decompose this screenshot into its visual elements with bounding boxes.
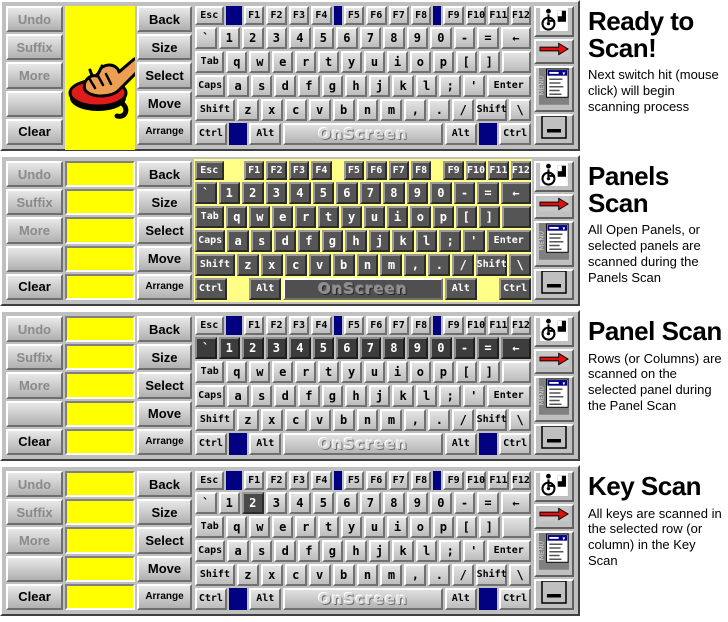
key-f3[interactable]: F3 xyxy=(289,471,309,490)
key-alt-right[interactable]: Alt xyxy=(445,123,477,145)
key-8[interactable]: 8 xyxy=(383,27,405,49)
key-8[interactable]: 8 xyxy=(383,492,405,514)
key-x[interactable]: x xyxy=(261,99,283,121)
key-shift-left[interactable]: Shift xyxy=(195,254,235,276)
highlight-box[interactable] xyxy=(65,91,135,117)
key-minus[interactable]: - xyxy=(454,492,476,514)
key-z[interactable]: z xyxy=(237,409,259,431)
key-f7[interactable]: F7 xyxy=(389,471,409,490)
command-button-more[interactable]: More xyxy=(6,372,63,398)
key-b[interactable]: b xyxy=(333,409,355,431)
key-ctrl-right[interactable]: Ctrl xyxy=(499,278,531,300)
command-button-more[interactable]: More xyxy=(6,527,63,553)
key-o[interactable]: o xyxy=(410,51,431,73)
key-comma[interactable]: , xyxy=(404,564,426,586)
key-p[interactable]: p xyxy=(433,206,454,228)
key-blank[interactable] xyxy=(502,361,531,383)
key-alt-right[interactable]: Alt xyxy=(445,278,477,300)
command-button-size[interactable]: Size xyxy=(137,34,192,60)
key-semicolon[interactable]: ; xyxy=(439,385,461,407)
highlight-box[interactable] xyxy=(65,217,135,243)
key-bracket-left[interactable]: [ xyxy=(456,361,477,383)
key-f9[interactable]: F9 xyxy=(443,471,463,490)
key-backspace[interactable]: ← xyxy=(501,492,531,514)
key-f5[interactable]: F5 xyxy=(344,6,364,25)
key-f11[interactable]: F11 xyxy=(488,316,508,335)
key-f5[interactable]: F5 xyxy=(344,316,364,335)
command-button-select[interactable]: Select xyxy=(137,527,192,553)
key-t[interactable]: t xyxy=(318,361,339,383)
menu-button[interactable]: MENU xyxy=(534,66,574,112)
key-ctrl-left[interactable]: Ctrl xyxy=(195,123,227,145)
key-period[interactable]: . xyxy=(428,99,450,121)
key-f4[interactable]: F4 xyxy=(311,471,331,490)
key-w[interactable]: w xyxy=(249,206,270,228)
red-arrow-button[interactable] xyxy=(534,349,574,373)
key-backslash[interactable]: \ xyxy=(509,409,531,431)
key-3[interactable]: 3 xyxy=(266,337,288,359)
key-spacebar[interactable]: OnScreen xyxy=(283,588,443,610)
minimize-button[interactable] xyxy=(534,579,574,610)
key-f9[interactable]: F9 xyxy=(443,316,463,335)
key-esc[interactable]: Esc xyxy=(195,471,224,490)
key-f2[interactable]: F2 xyxy=(266,161,286,180)
key-s[interactable]: s xyxy=(251,75,273,97)
key-1[interactable]: 1 xyxy=(219,337,241,359)
key-2[interactable]: 2 xyxy=(242,182,264,204)
command-button-size[interactable]: Size xyxy=(137,344,192,370)
command-button-arrange[interactable]: Arrange xyxy=(137,119,192,145)
key-quote[interactable]: ' xyxy=(463,75,485,97)
minimize-button[interactable] xyxy=(534,269,574,300)
menu-button[interactable]: MENU xyxy=(534,376,574,422)
key-q[interactable]: q xyxy=(226,206,247,228)
key-c[interactable]: c xyxy=(285,254,307,276)
key-q[interactable]: q xyxy=(226,51,247,73)
menu-button[interactable]: MENU xyxy=(534,221,574,267)
key-o[interactable]: o xyxy=(410,206,431,228)
key-slash[interactable]: / xyxy=(452,409,474,431)
key-backslash[interactable]: \ xyxy=(509,564,531,586)
key-f7[interactable]: F7 xyxy=(389,316,409,335)
key-x[interactable]: x xyxy=(261,254,283,276)
key-q[interactable]: q xyxy=(226,361,247,383)
key-z[interactable]: z xyxy=(237,564,259,586)
key-e[interactable]: e xyxy=(272,206,293,228)
command-button-blank[interactable] xyxy=(6,91,63,117)
key-q[interactable]: q xyxy=(226,516,247,538)
command-button-select[interactable]: Select xyxy=(137,217,192,243)
key-ctrl-right[interactable]: Ctrl xyxy=(499,433,531,455)
key-s[interactable]: s xyxy=(251,385,273,407)
key-g[interactable]: g xyxy=(322,75,344,97)
key-ctrl-left[interactable]: Ctrl xyxy=(195,588,227,610)
key-f1[interactable]: F1 xyxy=(244,161,264,180)
key-h[interactable]: h xyxy=(345,230,367,252)
key-shift-left[interactable]: Shift xyxy=(195,564,235,586)
key-4[interactable]: 4 xyxy=(289,182,311,204)
key-semicolon[interactable]: ; xyxy=(439,75,461,97)
highlight-box[interactable] xyxy=(65,316,135,342)
key-slash[interactable]: / xyxy=(452,254,474,276)
key-i[interactable]: i xyxy=(387,51,408,73)
key-n[interactable]: n xyxy=(357,254,379,276)
key-a[interactable]: a xyxy=(227,75,249,97)
key-s[interactable]: s xyxy=(251,230,273,252)
command-button-clear[interactable]: Clear xyxy=(6,584,63,610)
command-button-move[interactable]: Move xyxy=(137,401,192,427)
key-5[interactable]: 5 xyxy=(313,27,335,49)
key-equals[interactable]: = xyxy=(477,337,499,359)
key-comma[interactable]: , xyxy=(404,409,426,431)
key-t[interactable]: t xyxy=(318,206,339,228)
command-button-undo[interactable]: Undo xyxy=(6,471,63,497)
key-8[interactable]: 8 xyxy=(383,182,405,204)
highlight-box[interactable] xyxy=(65,189,135,215)
key-caps-lock[interactable]: Caps xyxy=(195,540,225,562)
key-g[interactable]: g xyxy=(322,540,344,562)
highlight-box[interactable] xyxy=(65,6,135,32)
highlight-box[interactable] xyxy=(65,246,135,272)
key-9[interactable]: 9 xyxy=(407,27,429,49)
highlight-box[interactable] xyxy=(65,62,135,88)
key-9[interactable]: 9 xyxy=(407,182,429,204)
command-button-select[interactable]: Select xyxy=(137,62,192,88)
command-button-blank[interactable] xyxy=(6,401,63,427)
key-c[interactable]: c xyxy=(285,409,307,431)
key-enter[interactable]: Enter xyxy=(487,230,531,252)
key-k[interactable]: k xyxy=(392,540,414,562)
key-f2[interactable]: F2 xyxy=(266,471,286,490)
key-shift-right[interactable]: Shift xyxy=(476,254,507,276)
key-7[interactable]: 7 xyxy=(360,337,382,359)
key-f1[interactable]: F1 xyxy=(244,471,264,490)
key-j[interactable]: j xyxy=(369,75,391,97)
key-z[interactable]: z xyxy=(237,99,259,121)
highlight-box[interactable] xyxy=(65,344,135,370)
command-button-select[interactable]: Select xyxy=(137,372,192,398)
key-7[interactable]: 7 xyxy=(360,182,382,204)
key-m[interactable]: m xyxy=(380,254,402,276)
key-a[interactable]: a xyxy=(227,385,249,407)
key-3[interactable]: 3 xyxy=(266,182,288,204)
command-button-back[interactable]: Back xyxy=(137,161,192,187)
key-7[interactable]: 7 xyxy=(360,27,382,49)
key-6[interactable]: 6 xyxy=(336,27,358,49)
key-backspace[interactable]: ← xyxy=(501,27,531,49)
key-f11[interactable]: F11 xyxy=(488,161,508,180)
key-9[interactable]: 9 xyxy=(407,337,429,359)
key-shift-right[interactable]: Shift xyxy=(476,99,507,121)
key-f3[interactable]: F3 xyxy=(289,6,309,25)
key-f12[interactable]: F12 xyxy=(511,161,531,180)
key-g[interactable]: g xyxy=(322,230,344,252)
key-1[interactable]: 1 xyxy=(219,492,241,514)
key-f6[interactable]: F6 xyxy=(366,161,386,180)
key-p[interactable]: p xyxy=(433,516,454,538)
highlight-box[interactable] xyxy=(65,429,135,455)
command-button-size[interactable]: Size xyxy=(137,499,192,525)
key-f11[interactable]: F11 xyxy=(488,471,508,490)
key-alt-left[interactable]: Alt xyxy=(249,123,281,145)
key-u[interactable]: u xyxy=(364,51,385,73)
key-alt-left[interactable]: Alt xyxy=(249,278,281,300)
key-n[interactable]: n xyxy=(357,99,379,121)
key-k[interactable]: k xyxy=(392,385,414,407)
key-k[interactable]: k xyxy=(392,75,414,97)
key-y[interactable]: y xyxy=(341,361,362,383)
key-caps-lock[interactable]: Caps xyxy=(195,230,225,252)
key-0[interactable]: 0 xyxy=(430,337,452,359)
key-j[interactable]: j xyxy=(369,230,391,252)
command-button-suffix[interactable]: Suffix xyxy=(6,499,63,525)
key-backspace[interactable]: ← xyxy=(501,337,531,359)
accessibility-button[interactable] xyxy=(534,316,574,347)
key-u[interactable]: u xyxy=(364,516,385,538)
key-backslash[interactable]: \ xyxy=(509,99,531,121)
key-e[interactable]: e xyxy=(272,361,293,383)
key-f6[interactable]: F6 xyxy=(366,316,386,335)
command-button-move[interactable]: Move xyxy=(137,91,192,117)
key-esc[interactable]: Esc xyxy=(195,316,224,335)
key-h[interactable]: h xyxy=(345,385,367,407)
key-a[interactable]: a xyxy=(227,230,249,252)
key-r[interactable]: r xyxy=(295,206,316,228)
key-6[interactable]: 6 xyxy=(336,492,358,514)
key-v[interactable]: v xyxy=(309,564,331,586)
command-button-undo[interactable]: Undo xyxy=(6,316,63,342)
key-f[interactable]: f xyxy=(298,540,320,562)
red-arrow-button[interactable] xyxy=(534,194,574,218)
key-l[interactable]: l xyxy=(416,385,438,407)
highlight-box[interactable] xyxy=(65,556,135,582)
command-button-undo[interactable]: Undo xyxy=(6,161,63,187)
key-i[interactable]: i xyxy=(387,516,408,538)
command-button-blank[interactable] xyxy=(6,246,63,272)
key-3[interactable]: 3 xyxy=(266,492,288,514)
key-x[interactable]: x xyxy=(261,564,283,586)
key-bracket-left[interactable]: [ xyxy=(456,206,477,228)
key-p[interactable]: p xyxy=(433,361,454,383)
command-button-blank[interactable] xyxy=(6,556,63,582)
key-d[interactable]: d xyxy=(274,230,296,252)
key-f4[interactable]: F4 xyxy=(311,161,331,180)
key-bracket-left[interactable]: [ xyxy=(456,51,477,73)
key-i[interactable]: i xyxy=(387,206,408,228)
highlight-box[interactable] xyxy=(65,471,135,497)
key-alt-left[interactable]: Alt xyxy=(249,588,281,610)
key-c[interactable]: c xyxy=(285,564,307,586)
key-minus[interactable]: - xyxy=(454,337,476,359)
key-enter[interactable]: Enter xyxy=(487,540,531,562)
key-8[interactable]: 8 xyxy=(383,337,405,359)
key-5[interactable]: 5 xyxy=(313,492,335,514)
key-f1[interactable]: F1 xyxy=(244,316,264,335)
key-f6[interactable]: F6 xyxy=(366,6,386,25)
key-o[interactable]: o xyxy=(410,361,431,383)
key-n[interactable]: n xyxy=(357,564,379,586)
key-f8[interactable]: F8 xyxy=(411,316,431,335)
key-f10[interactable]: F10 xyxy=(466,471,486,490)
key-alt-right[interactable]: Alt xyxy=(445,433,477,455)
menu-button[interactable]: MENU xyxy=(534,531,574,577)
key-ctrl-left[interactable]: Ctrl xyxy=(195,433,227,455)
command-button-more[interactable]: More xyxy=(6,217,63,243)
key-backspace[interactable]: ← xyxy=(501,182,531,204)
key-f10[interactable]: F10 xyxy=(466,316,486,335)
highlight-box[interactable] xyxy=(65,372,135,398)
key-bracket-right[interactable]: ] xyxy=(479,516,500,538)
key-m[interactable]: m xyxy=(380,99,402,121)
key-y[interactable]: y xyxy=(341,51,362,73)
red-arrow-button[interactable] xyxy=(534,504,574,528)
key-v[interactable]: v xyxy=(309,409,331,431)
key-backslash[interactable]: \ xyxy=(509,254,531,276)
key-shift-left[interactable]: Shift xyxy=(195,99,235,121)
key-f9[interactable]: F9 xyxy=(443,161,463,180)
key-equals[interactable]: = xyxy=(477,182,499,204)
key-d[interactable]: d xyxy=(274,75,296,97)
command-button-move[interactable]: Move xyxy=(137,556,192,582)
key-c[interactable]: c xyxy=(285,99,307,121)
key-period[interactable]: . xyxy=(428,409,450,431)
key-f4[interactable]: F4 xyxy=(311,316,331,335)
key-f10[interactable]: F10 xyxy=(466,6,486,25)
command-button-arrange[interactable]: Arrange xyxy=(137,429,192,455)
key-f8[interactable]: F8 xyxy=(411,161,431,180)
key-0[interactable]: 0 xyxy=(430,27,452,49)
key-quote[interactable]: ' xyxy=(463,385,485,407)
key-d[interactable]: d xyxy=(274,385,296,407)
key-semicolon[interactable]: ; xyxy=(439,230,461,252)
key-0[interactable]: 0 xyxy=(430,492,452,514)
key-5[interactable]: 5 xyxy=(313,337,335,359)
key-9[interactable]: 9 xyxy=(407,492,429,514)
key-7[interactable]: 7 xyxy=(360,492,382,514)
key-f9[interactable]: F9 xyxy=(443,6,463,25)
key-esc[interactable]: Esc xyxy=(195,6,224,25)
key-h[interactable]: h xyxy=(345,540,367,562)
key-minus[interactable]: - xyxy=(454,182,476,204)
key-period[interactable]: . xyxy=(428,564,450,586)
key-f12[interactable]: F12 xyxy=(511,316,531,335)
key-comma[interactable]: , xyxy=(404,99,426,121)
key-v[interactable]: v xyxy=(309,254,331,276)
key-e[interactable]: e xyxy=(272,51,293,73)
key-r[interactable]: r xyxy=(295,361,316,383)
minimize-button[interactable] xyxy=(534,114,574,145)
accessibility-button[interactable] xyxy=(534,161,574,192)
key-f10[interactable]: F10 xyxy=(466,161,486,180)
key-f8[interactable]: F8 xyxy=(411,6,431,25)
key-backtick[interactable]: ` xyxy=(195,337,217,359)
key-tab[interactable]: Tab xyxy=(195,206,224,228)
key-bracket-right[interactable]: ] xyxy=(479,206,500,228)
key-6[interactable]: 6 xyxy=(336,182,358,204)
command-button-more[interactable]: More xyxy=(6,62,63,88)
key-f3[interactable]: F3 xyxy=(289,316,309,335)
key-w[interactable]: w xyxy=(249,361,270,383)
key-equals[interactable]: = xyxy=(477,492,499,514)
key-3[interactable]: 3 xyxy=(266,27,288,49)
key-x[interactable]: x xyxy=(261,409,283,431)
highlight-box[interactable] xyxy=(65,119,135,145)
highlight-box[interactable] xyxy=(65,527,135,553)
key-4[interactable]: 4 xyxy=(289,492,311,514)
highlight-box[interactable] xyxy=(65,34,135,60)
key-ctrl-left[interactable]: Ctrl xyxy=(195,278,227,300)
key-shift-left[interactable]: Shift xyxy=(195,409,235,431)
key-r[interactable]: r xyxy=(295,516,316,538)
key-t[interactable]: t xyxy=(318,516,339,538)
key-e[interactable]: e xyxy=(272,516,293,538)
command-button-size[interactable]: Size xyxy=(137,189,192,215)
key-1[interactable]: 1 xyxy=(219,182,241,204)
key-tab[interactable]: Tab xyxy=(195,361,224,383)
key-ctrl-right[interactable]: Ctrl xyxy=(499,123,531,145)
key-spacebar[interactable]: OnScreen xyxy=(283,278,443,300)
key-esc[interactable]: Esc xyxy=(195,161,224,180)
key-b[interactable]: b xyxy=(333,99,355,121)
key-alt-right[interactable]: Alt xyxy=(445,588,477,610)
key-slash[interactable]: / xyxy=(452,564,474,586)
key-f5[interactable]: F5 xyxy=(344,471,364,490)
key-backtick[interactable]: ` xyxy=(195,182,217,204)
key-6[interactable]: 6 xyxy=(336,337,358,359)
key-f4[interactable]: F4 xyxy=(311,6,331,25)
key-4[interactable]: 4 xyxy=(289,27,311,49)
key-o[interactable]: o xyxy=(410,516,431,538)
key-2[interactable]: 2 xyxy=(242,27,264,49)
key-ctrl-right[interactable]: Ctrl xyxy=(499,588,531,610)
key-blank[interactable] xyxy=(502,206,531,228)
key-z[interactable]: z xyxy=(237,254,259,276)
key-f11[interactable]: F11 xyxy=(488,6,508,25)
command-button-back[interactable]: Back xyxy=(137,316,192,342)
key-g[interactable]: g xyxy=(322,385,344,407)
key-tab[interactable]: Tab xyxy=(195,516,224,538)
key-a[interactable]: a xyxy=(227,540,249,562)
key-y[interactable]: y xyxy=(341,516,362,538)
minimize-button[interactable] xyxy=(534,424,574,455)
command-button-arrange[interactable]: Arrange xyxy=(137,584,192,610)
key-caps-lock[interactable]: Caps xyxy=(195,385,225,407)
key-minus[interactable]: - xyxy=(454,27,476,49)
key-2[interactable]: 2 xyxy=(242,337,264,359)
red-arrow-button[interactable] xyxy=(534,39,574,63)
key-alt-left[interactable]: Alt xyxy=(249,433,281,455)
key-k[interactable]: k xyxy=(392,230,414,252)
key-quote[interactable]: ' xyxy=(463,230,485,252)
command-button-suffix[interactable]: Suffix xyxy=(6,189,63,215)
key-equals[interactable]: = xyxy=(477,27,499,49)
command-button-suffix[interactable]: Suffix xyxy=(6,34,63,60)
key-f7[interactable]: F7 xyxy=(389,161,409,180)
key-f[interactable]: f xyxy=(298,385,320,407)
key-j[interactable]: j xyxy=(369,385,391,407)
command-button-clear[interactable]: Clear xyxy=(6,429,63,455)
command-button-undo[interactable]: Undo xyxy=(6,6,63,32)
command-button-clear[interactable]: Clear xyxy=(6,274,63,300)
key-2[interactable]: 2 xyxy=(242,492,264,514)
key-b[interactable]: b xyxy=(333,564,355,586)
key-quote[interactable]: ' xyxy=(463,540,485,562)
key-i[interactable]: i xyxy=(387,361,408,383)
key-spacebar[interactable]: OnScreen xyxy=(283,123,443,145)
key-s[interactable]: s xyxy=(251,540,273,562)
key-blank[interactable] xyxy=(502,516,531,538)
key-enter[interactable]: Enter xyxy=(487,75,531,97)
